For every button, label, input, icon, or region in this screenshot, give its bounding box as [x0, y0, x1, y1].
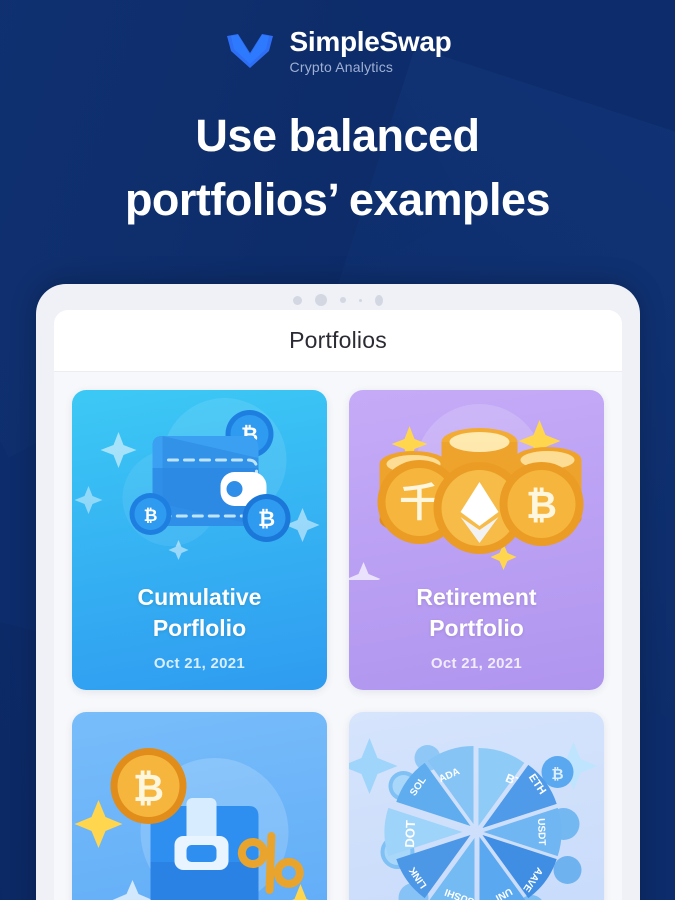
chevron-v-logo-icon	[224, 31, 276, 71]
portfolio-card-retirement[interactable]: 千 ₿ Retirement Portfolio	[349, 390, 604, 690]
portfolio-card-cumulative[interactable]: ₿ ₿	[72, 390, 327, 690]
stacked-gold-coins-icon: 千 ₿	[349, 390, 604, 580]
svg-text:USDT: USDT	[535, 818, 547, 846]
sensor-dot	[340, 297, 346, 303]
app-screen: Portfolios	[54, 310, 622, 900]
svg-text:₿: ₿	[133, 768, 164, 810]
brand-tagline: Crypto Analytics	[290, 60, 452, 74]
headline-line-1: Use balanced	[0, 104, 675, 168]
svg-text:₿: ₿	[551, 766, 563, 783]
headline-line-2: portfolios’ examples	[0, 168, 675, 232]
briefcase-with-bitcoin-icon: ₿	[72, 712, 327, 900]
card-title-line-1: Retirement	[416, 584, 536, 610]
svg-text:千: 千	[400, 481, 440, 525]
svg-text:DOT: DOT	[402, 820, 418, 848]
front-camera-icon	[375, 295, 383, 306]
sensor-dot	[315, 294, 327, 306]
portfolio-card-proseller[interactable]: ₿ Proseller Oct 21, 2	[72, 712, 327, 900]
card-date: Oct 21, 2021	[431, 655, 522, 672]
page-headline: Use balanced portfolios’ examples	[0, 104, 675, 232]
svg-text:₿: ₿	[144, 506, 158, 525]
card-title-line-1: Cumulative	[138, 584, 262, 610]
card-date: Oct 21, 2021	[154, 655, 245, 672]
page-title: Portfolios	[289, 327, 387, 354]
svg-text:₿: ₿	[526, 485, 557, 527]
tablet-device-frame: Portfolios	[36, 284, 640, 900]
crypto-pie-chart-icon: ₿ BTC	[349, 712, 604, 900]
portfolio-card-pie-chart[interactable]: ₿ BTC	[349, 712, 604, 900]
wallet-with-bitcoin-coins-icon: ₿ ₿	[72, 390, 327, 580]
card-title-line-2: Porflolio	[153, 615, 246, 641]
brand-name: SimpleSwap	[290, 28, 452, 56]
sensor-dot	[359, 299, 362, 302]
brand-lockup: SimpleSwap Crypto Analytics	[0, 28, 675, 74]
portfolio-card-grid: ₿ ₿	[54, 372, 622, 900]
device-sensor-dots	[36, 293, 640, 307]
svg-text:₿: ₿	[258, 508, 275, 531]
promo-screenshot: SimpleSwap Crypto Analytics Use balanced…	[0, 0, 675, 900]
card-title-line-2: Portfolio	[429, 615, 524, 641]
card-title: Cumulative Porflolio	[138, 582, 262, 644]
sensor-dot	[293, 296, 302, 305]
app-header: Portfolios	[54, 310, 622, 372]
card-title: Retirement Portfolio	[416, 582, 536, 644]
